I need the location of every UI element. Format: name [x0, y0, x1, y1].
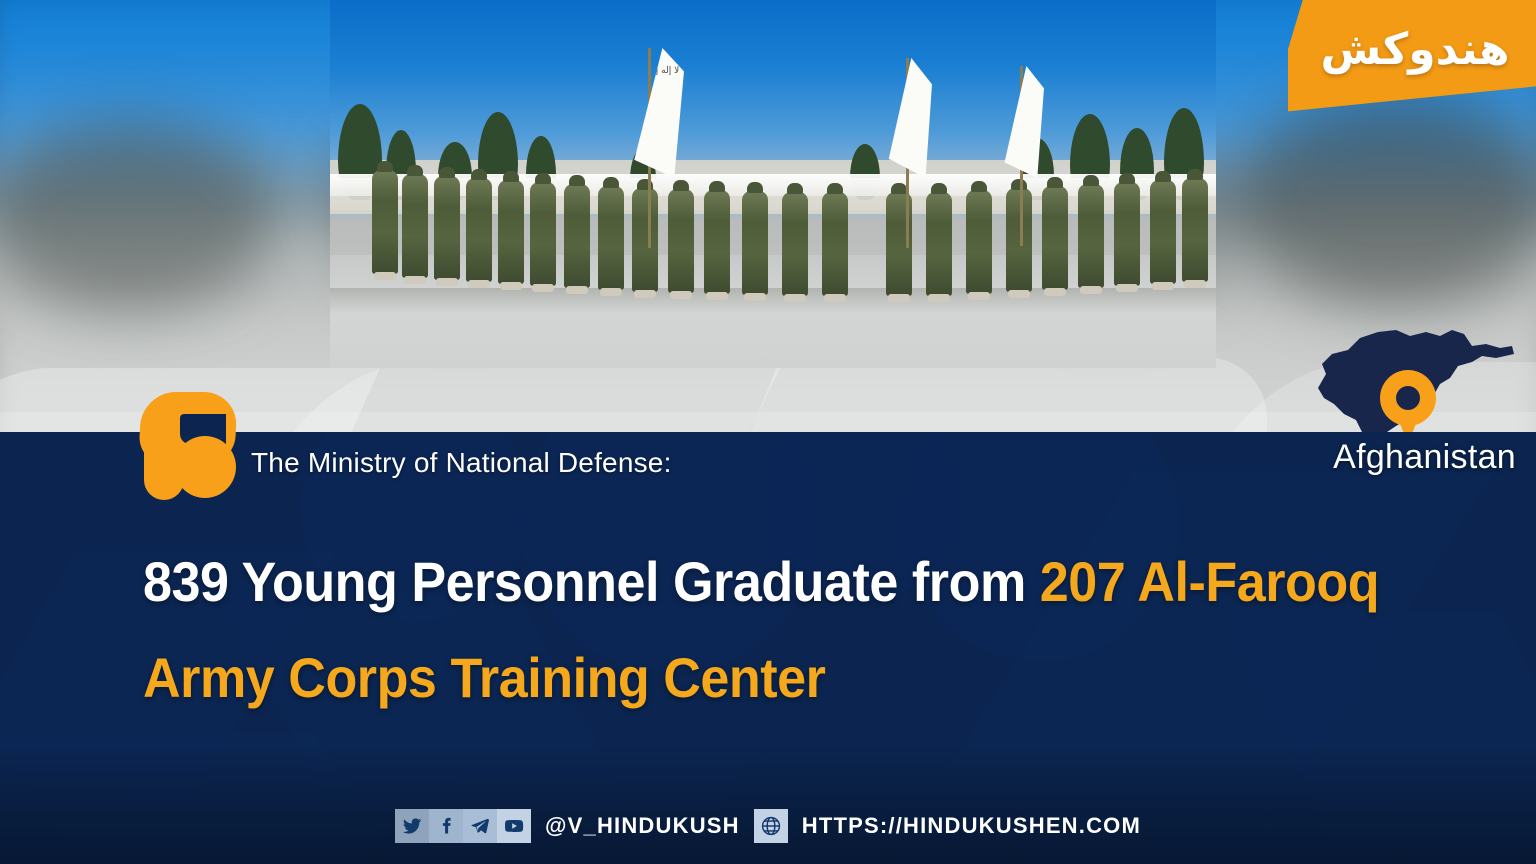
website-url[interactable]: HTTPS://HINDUKUSHEN.COM	[802, 813, 1141, 839]
photo-soldier-formation	[330, 182, 1216, 302]
globe-icon[interactable]	[754, 809, 788, 843]
news-graphic-card: لا إله إلا الله هندوکش	[0, 0, 1536, 864]
panel-bottom-fade	[0, 744, 1536, 864]
youtube-icon[interactable]	[497, 809, 531, 843]
country-label: Afghanistan	[1286, 438, 1516, 477]
quote-ball	[174, 436, 236, 498]
quote-mark-icon	[140, 392, 236, 504]
footer-bar: @V_HINDUKUSH HTTPS://HINDUKUSHEN.COM	[0, 806, 1536, 846]
twitter-icon[interactable]	[395, 809, 429, 843]
map-pin-hole	[1396, 386, 1420, 410]
headline-line1-gold: 207 Al-Farooq	[1040, 550, 1379, 613]
social-handle[interactable]: @V_HINDUKUSH	[545, 813, 740, 839]
headline-line1-white: 839 Young Personnel Graduate from	[143, 550, 1040, 613]
hero-photo: لا إله إلا الله	[330, 0, 1216, 368]
headline-text: 839 Young Personnel Graduate from 207 Al…	[143, 534, 1380, 726]
logo-text: هندوکش	[1302, 20, 1528, 80]
telegram-icon[interactable]	[463, 809, 497, 843]
facebook-icon[interactable]	[429, 809, 463, 843]
hindukush-logo[interactable]: هندوکش	[1288, 0, 1536, 128]
headline-line2-gold: Army Corps Training Center	[143, 646, 825, 709]
kicker-text: The Ministry of National Defense:	[251, 447, 1151, 479]
